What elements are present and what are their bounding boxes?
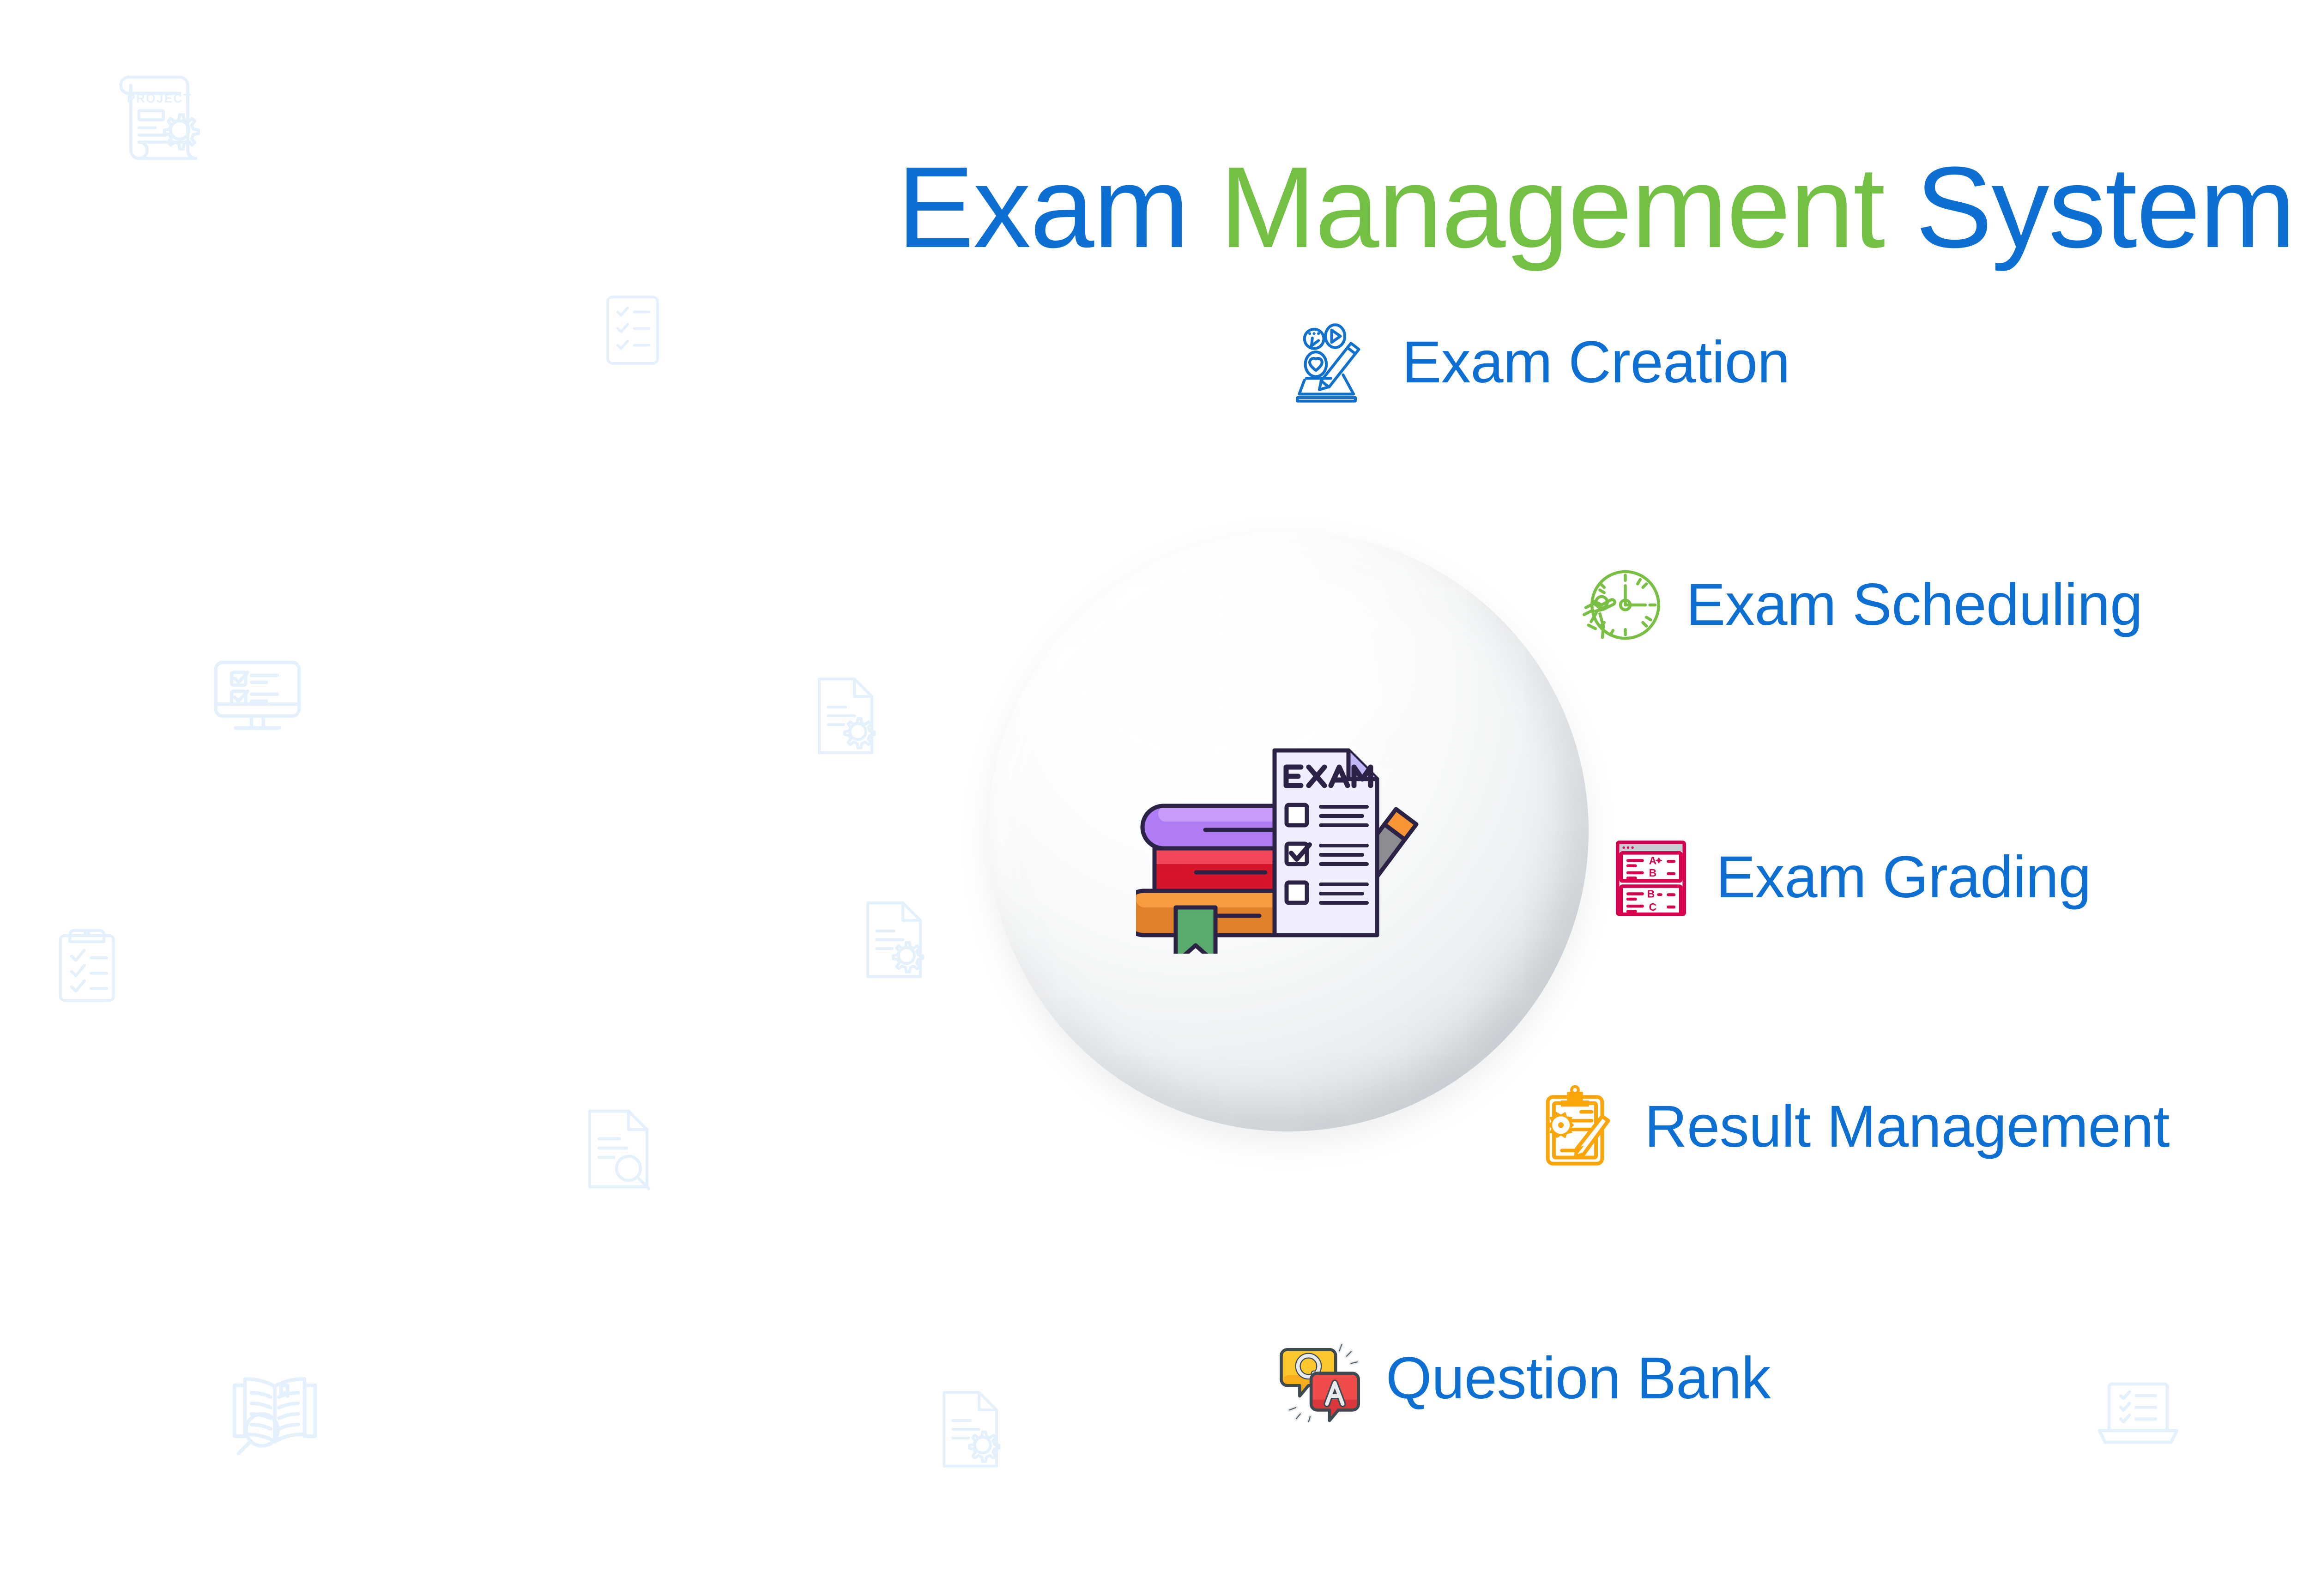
exam-creation-icon bbox=[1293, 319, 1381, 406]
doc-gear-watermark bbox=[928, 1385, 1016, 1473]
grade-sheet-icon: A B B C bbox=[1607, 834, 1695, 921]
doc-gear-watermark bbox=[852, 896, 940, 984]
feature-label: Exam Scheduling bbox=[1686, 573, 2143, 637]
hero-sphere bbox=[988, 531, 1589, 1131]
clipboard-gear-pencil-icon bbox=[1535, 1083, 1623, 1171]
title-word-system: System bbox=[1916, 143, 2295, 272]
page-title: Exam Management System bbox=[0, 147, 2309, 268]
svg-text:PROJECT: PROJECT bbox=[127, 91, 192, 105]
feature-label: Question Bank bbox=[1386, 1347, 1771, 1410]
feature-item-result-management[interactable]: Result Management bbox=[1535, 1083, 2170, 1171]
feature-item-exam-grading[interactable]: A B B C Exam Grading bbox=[1607, 834, 2091, 921]
svg-text:B: B bbox=[1649, 867, 1656, 879]
feature-item-question-bank[interactable]: Question Bank bbox=[1277, 1335, 1771, 1422]
svg-text:A: A bbox=[1649, 855, 1656, 867]
qa-speech-bubbles-icon bbox=[1277, 1335, 1365, 1422]
checklist-note-watermark bbox=[591, 289, 674, 372]
feature-item-exam-scheduling[interactable]: Exam Scheduling bbox=[1577, 561, 2143, 649]
monitor-checklist-watermark bbox=[208, 647, 307, 746]
feature-item-exam-creation[interactable]: Exam Creation bbox=[1293, 319, 1790, 406]
book-search-watermark bbox=[222, 1358, 328, 1464]
svg-text:C: C bbox=[1649, 901, 1656, 913]
exam-books-illustration bbox=[1136, 709, 1441, 954]
feature-label: Result Management bbox=[1644, 1095, 2170, 1159]
title-word-exam: Exam bbox=[897, 143, 1189, 272]
feature-label: Exam Grading bbox=[1716, 846, 2091, 909]
clock-runner-icon bbox=[1577, 561, 1665, 649]
laptop-list-watermark bbox=[2090, 1365, 2187, 1462]
title-word-management: Management bbox=[1220, 143, 1884, 272]
clipboard-check-watermark bbox=[48, 924, 134, 1009]
doc-gear-watermark bbox=[804, 672, 891, 760]
doc-search-watermark bbox=[575, 1104, 667, 1196]
svg-text:B: B bbox=[1647, 888, 1655, 900]
feature-label: Exam Creation bbox=[1402, 331, 1790, 394]
